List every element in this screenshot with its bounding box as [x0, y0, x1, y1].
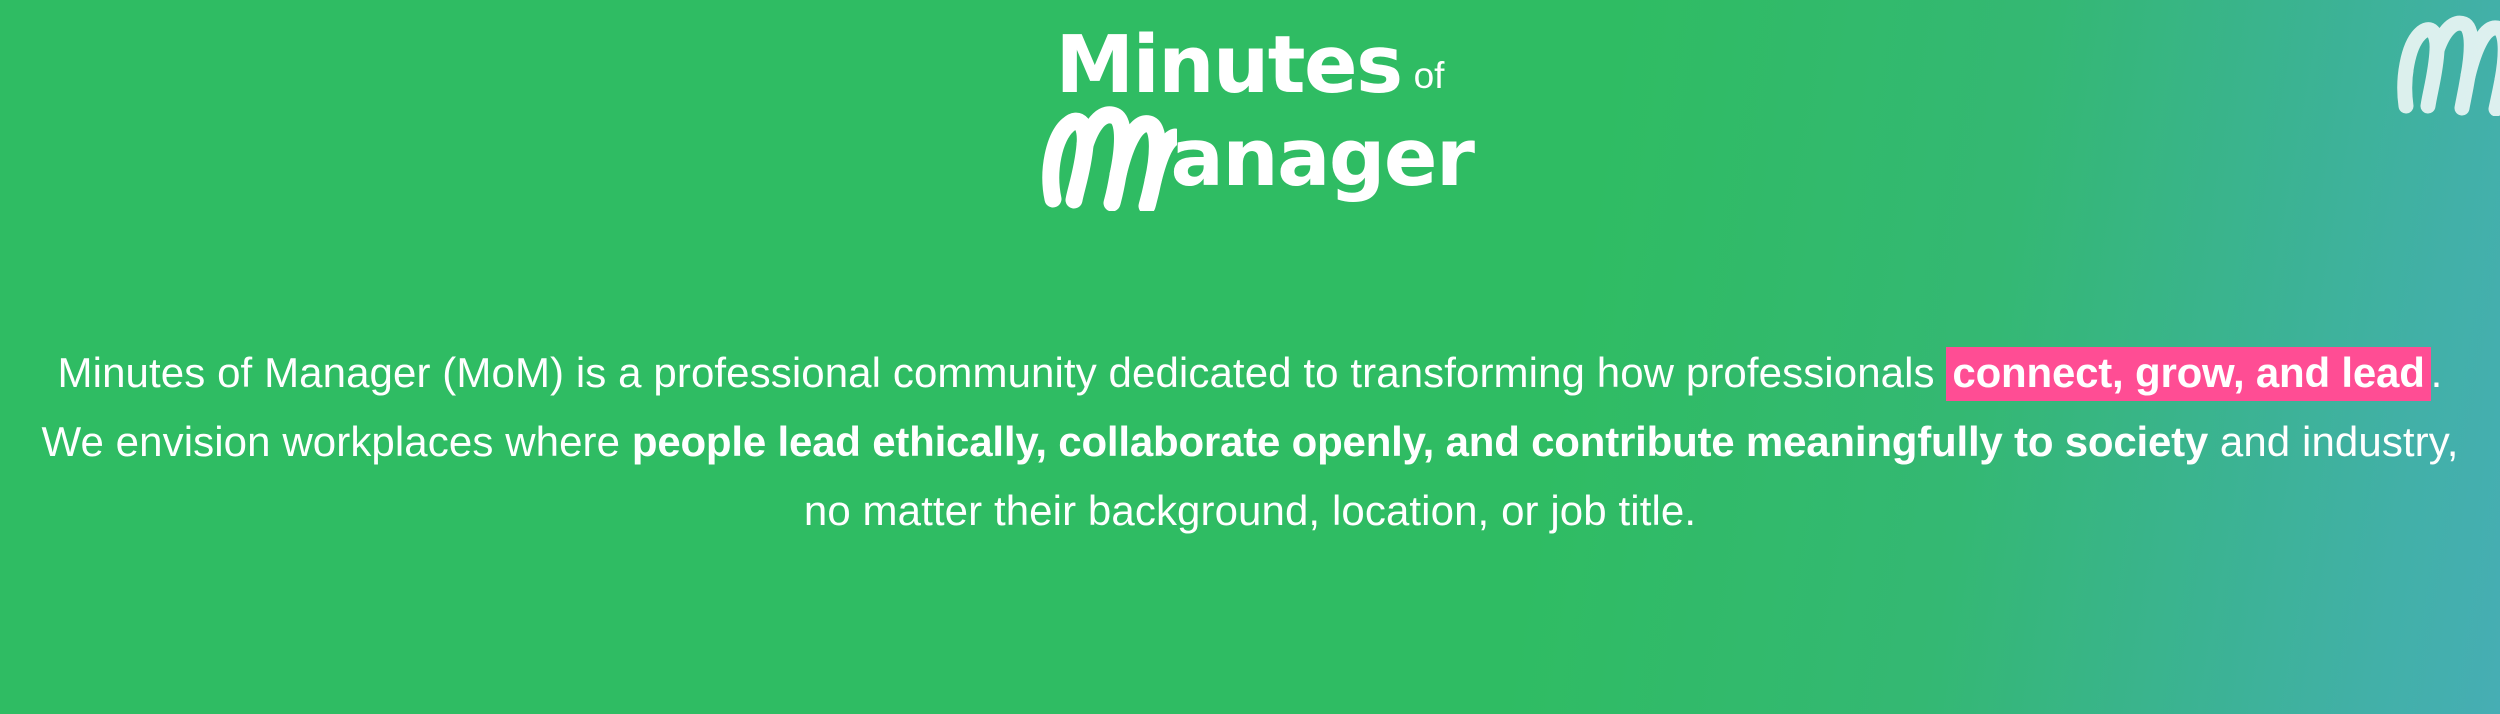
hero-banner: Minutesof anager Minute: [0, 0, 2500, 714]
mission-bold-phrase: people lead ethically, collaborate openl…: [632, 418, 2208, 465]
logo-line-two: anager: [0, 99, 2500, 207]
mission-text-part-1: Minutes of Manager (MoM) is a profession…: [58, 349, 1947, 396]
logo-word-minutes: Minutes: [1056, 26, 1402, 105]
mission-statement: Minutes of Manager (MoM) is a profession…: [25, 338, 2475, 545]
logo-word-of: of: [1414, 57, 1445, 94]
logo-line-one: Minutesof: [0, 26, 2500, 105]
brand-logo[interactable]: Minutesof anager: [0, 26, 2500, 207]
script-m-logo-icon: [1027, 103, 1177, 211]
mission-highlight-phrase: connect, grow, and lead: [1946, 347, 2430, 401]
logo-word-anager: anager: [1171, 115, 1474, 201]
